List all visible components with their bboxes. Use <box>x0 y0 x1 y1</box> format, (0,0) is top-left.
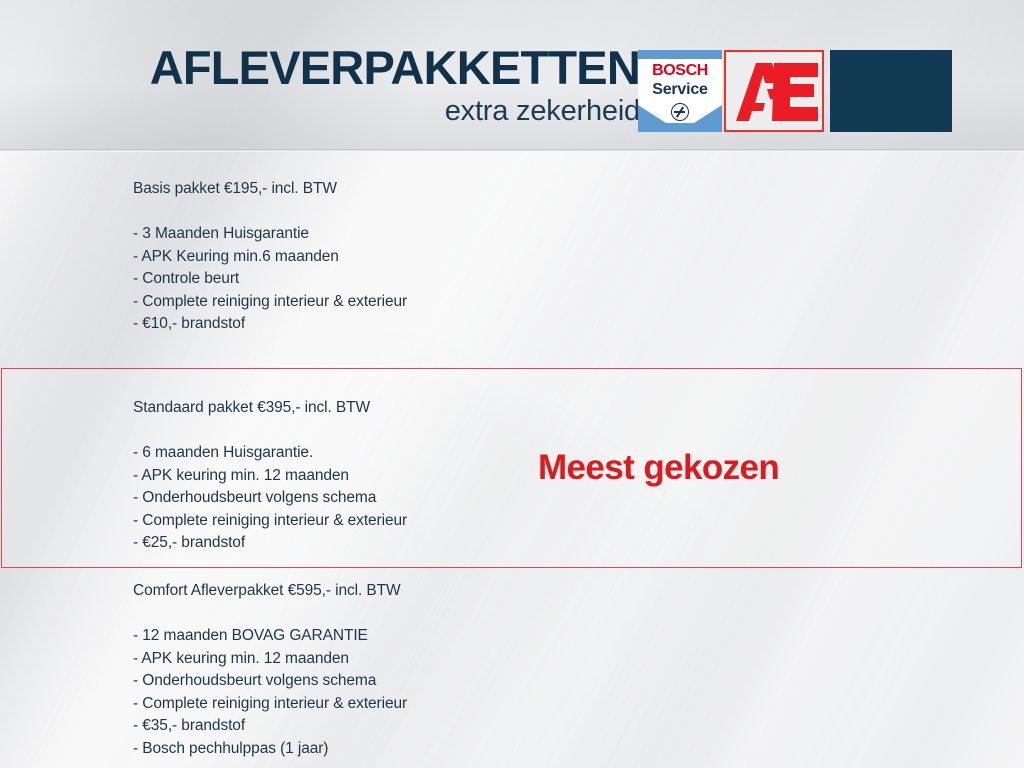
list-item: - Onderhoudsbeurt volgens schema <box>133 487 407 510</box>
page-title: AFLEVERPAKKETTEN <box>88 43 640 93</box>
list-item: - 3 Maanden Huisgarantie <box>133 223 407 246</box>
package-title: Basis pakket €195,- incl. BTW <box>133 179 407 199</box>
list-item: - Complete reiniging interieur & exterie… <box>133 291 407 314</box>
package-standaard: Standaard pakket €395,- incl. BTW - 6 ma… <box>133 398 407 555</box>
list-item: - €10,- brandstof <box>133 313 407 336</box>
most-chosen-badge: Meest gekozen <box>538 448 779 488</box>
list-item: - €25,- brandstof <box>133 532 407 555</box>
list-item: - Controle beurt <box>133 268 407 291</box>
slide-canvas: AFLEVERPAKKETTEN extra zekerheid BOSCH S… <box>0 0 1024 768</box>
list-item: - Bosch pechhulppas (1 jaar) <box>133 738 407 761</box>
ae-logo-icon <box>732 59 820 127</box>
bosch-wordmark: BOSCH <box>638 62 722 80</box>
package-feature-list: - 3 Maanden Huisgarantie - APK Keuring m… <box>133 223 407 336</box>
bosch-armature-icon <box>671 103 689 121</box>
list-item: - 6 maanden Huisgarantie. <box>133 442 407 465</box>
ae-logo <box>724 50 824 132</box>
page-subtitle: extra zekerheid <box>88 94 640 128</box>
package-feature-list: - 12 maanden BOVAG GARANTIE - APK keurin… <box>133 625 407 760</box>
package-comfort: Comfort Afleverpakket €595,- incl. BTW -… <box>133 581 407 760</box>
package-basis: Basis pakket €195,- incl. BTW - 3 Maande… <box>133 179 407 336</box>
package-title: Standaard pakket €395,- incl. BTW <box>133 398 407 418</box>
bosch-service-label: Service <box>638 81 722 99</box>
bosch-service-logo: BOSCH Service <box>638 50 722 132</box>
package-feature-list: - 6 maanden Huisgarantie. - APK keuring … <box>133 442 407 555</box>
bosch-top-band <box>638 50 722 59</box>
list-item: - APK Keuring min.6 maanden <box>133 246 407 269</box>
list-item: - APK keuring min. 12 maanden <box>133 465 407 488</box>
list-item: - Complete reiniging interieur & exterie… <box>133 693 407 716</box>
list-item: - Onderhoudsbeurt volgens schema <box>133 670 407 693</box>
package-title: Comfort Afleverpakket €595,- incl. BTW <box>133 581 407 601</box>
list-item: - 12 maanden BOVAG GARANTIE <box>133 625 407 648</box>
header: AFLEVERPAKKETTEN extra zekerheid BOSCH S… <box>0 0 1024 151</box>
title-block: AFLEVERPAKKETTEN extra zekerheid <box>88 43 640 128</box>
navy-placeholder-block <box>830 50 952 132</box>
list-item: - €35,- brandstof <box>133 715 407 738</box>
list-item: - Complete reiniging interieur & exterie… <box>133 510 407 533</box>
list-item: - APK keuring min. 12 maanden <box>133 648 407 671</box>
